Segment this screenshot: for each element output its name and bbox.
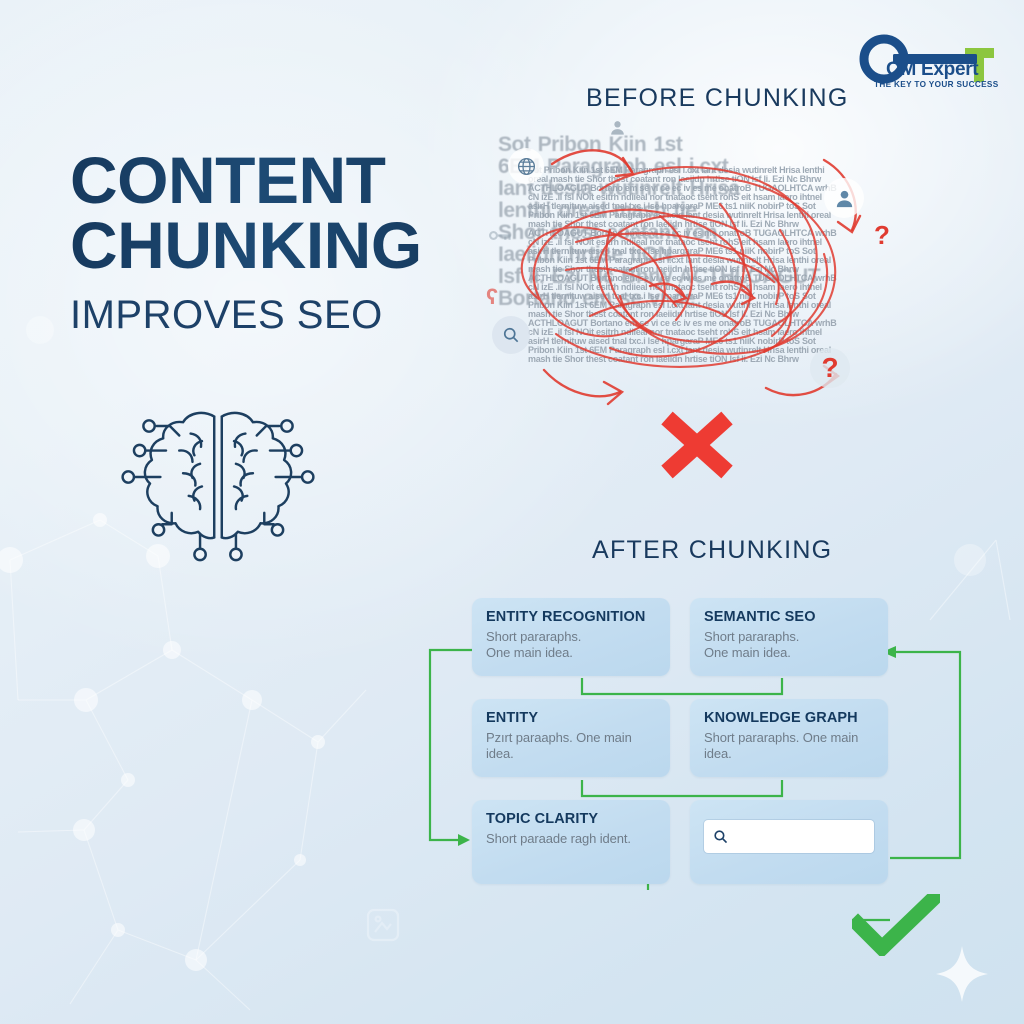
card-title: ENTITY RECOGNITION	[486, 610, 656, 626]
card-title: KNOWLEDGE GRAPH	[704, 711, 874, 727]
om-expert-logo[interactable]: OM Expert THE KEY TO YOUR SUCCESS	[858, 30, 998, 88]
before-chunking-tangle: Sot Pribon Kiin 1st 6EM Paragraph esl i.…	[480, 120, 900, 410]
link-icon: ʕ	[486, 284, 498, 310]
card-entity-recognition[interactable]: ENTITY RECOGNITION Short pararaphs. One …	[472, 598, 670, 676]
card-title: SEMANTIC SEO	[704, 610, 874, 626]
red-x-icon	[655, 408, 739, 482]
after-chunking-heading: AFTER CHUNKING	[592, 536, 832, 565]
card-topic-clarity[interactable]: TOPIC CLARITY Short paraade ragh ident.	[472, 800, 670, 884]
card-search-widget	[690, 800, 888, 884]
logo-wordmark-om: OM	[886, 59, 916, 80]
title-subtitle: IMPROVES SEO	[70, 293, 490, 338]
infographic-canvas: OM Expert THE KEY TO YOUR SUCCESS CONTEN…	[0, 0, 1024, 1024]
search-icon	[712, 828, 729, 845]
before-chunking-heading: BEFORE CHUNKING	[586, 84, 849, 113]
card-body: Pzırt paraaphs. One main idea.	[486, 730, 656, 763]
chunked-cards-grid: ENTITY RECOGNITION Short pararaphs. One …	[472, 598, 888, 884]
card-body: Short pararaphs. One main idea.	[704, 730, 874, 763]
question-mark-icon: ?	[810, 348, 850, 388]
logo-wordmark: OM Expert	[886, 59, 978, 81]
logo-tagline: THE KEY TO YOUR SUCCESS	[874, 80, 999, 89]
key-icon	[488, 228, 514, 248]
globe-icon	[508, 148, 544, 184]
search-icon	[492, 316, 530, 354]
card-knowledge-graph[interactable]: KNOWLEDGE GRAPH Short pararaphs. One mai…	[690, 699, 888, 777]
card-title: ENTITY	[486, 711, 656, 727]
card-body: Short pararaphs. One main idea.	[704, 629, 874, 662]
person-icon	[604, 114, 630, 140]
card-entity[interactable]: ENTITY Pzırt paraaphs. One main idea.	[472, 699, 670, 777]
card-title: TOPIC CLARITY	[486, 812, 656, 828]
page-title: CONTENT CHUNKING IMPROVES SEO	[70, 148, 490, 338]
title-line-2: CHUNKING	[70, 213, 490, 278]
title-line-1: CONTENT	[70, 148, 490, 213]
card-body: Short paraade ragh ident.	[486, 831, 656, 847]
search-input[interactable]	[729, 820, 874, 853]
card-semantic-seo[interactable]: SEMANTIC SEO Short pararaphs. One main i…	[690, 598, 888, 676]
faint-square-image-icon	[366, 908, 400, 942]
serp-search-bar[interactable]	[704, 820, 874, 853]
green-check-icon	[852, 894, 940, 956]
person-icon	[824, 178, 864, 218]
brain-circuit-icon	[118, 392, 318, 562]
four-point-sparkle-icon	[934, 944, 990, 1004]
logo-wordmark-expert: Expert	[921, 59, 978, 80]
question-mark-icon: ?	[874, 220, 890, 251]
card-body: Short pararaphs. One main idea.	[486, 629, 656, 662]
